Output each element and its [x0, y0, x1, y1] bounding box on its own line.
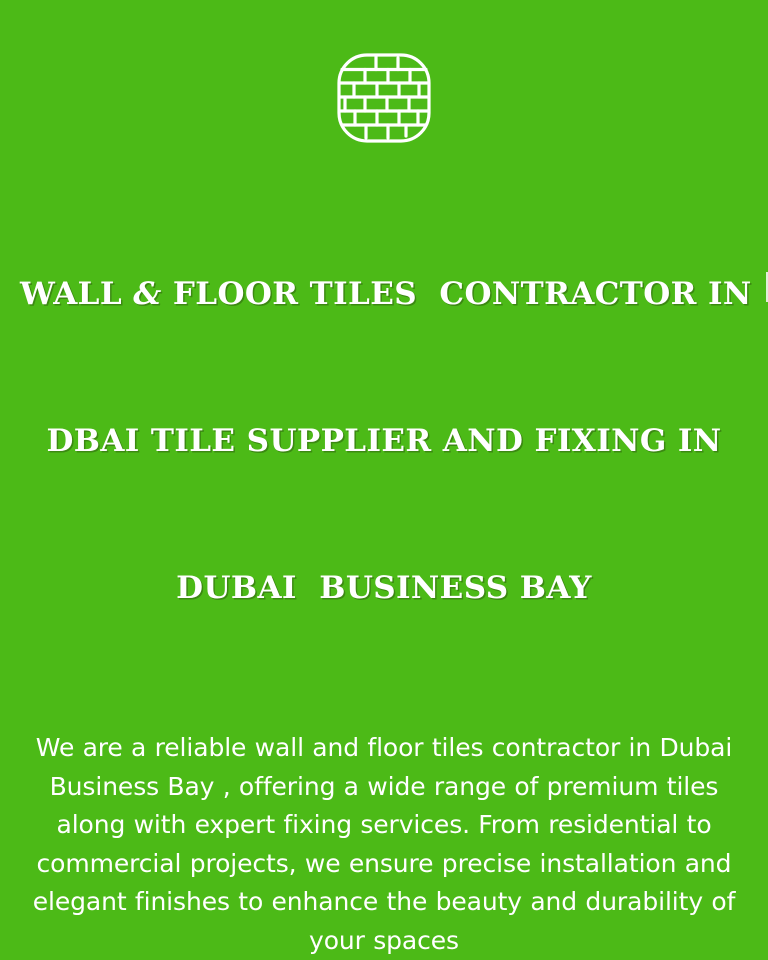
description-paragraph: We are a reliable wall and floor tiles c… — [0, 729, 768, 960]
headline-line-2: DBAI TILE SUPPLIER AND FIXING IN — [20, 417, 748, 466]
ampersand-glyph: & — [133, 276, 161, 312]
headline-block: WALL & FLOOR TILES CONTRACTOR IN DBAI TI… — [0, 172, 768, 711]
headline-line-1-part-b: FLOOR TILES CONTRACTOR IN — [162, 276, 763, 312]
brick-wall-icon — [336, 52, 432, 144]
headline-line-1-part-a: WALL — [20, 276, 133, 312]
page-title: WALL & FLOOR TILES CONTRACTOR IN DBAI TI… — [0, 172, 768, 711]
headline-line-1: WALL & FLOOR TILES CONTRACTOR IN — [20, 270, 748, 319]
headline-line-3: DUBAI BUSINESS BAY — [20, 564, 748, 613]
promo-card: WALL & FLOOR TILES CONTRACTOR IN DBAI TI… — [0, 0, 768, 768]
brick-wall-logo — [334, 52, 434, 144]
body-block: We are a reliable wall and floor tiles c… — [0, 729, 768, 960]
